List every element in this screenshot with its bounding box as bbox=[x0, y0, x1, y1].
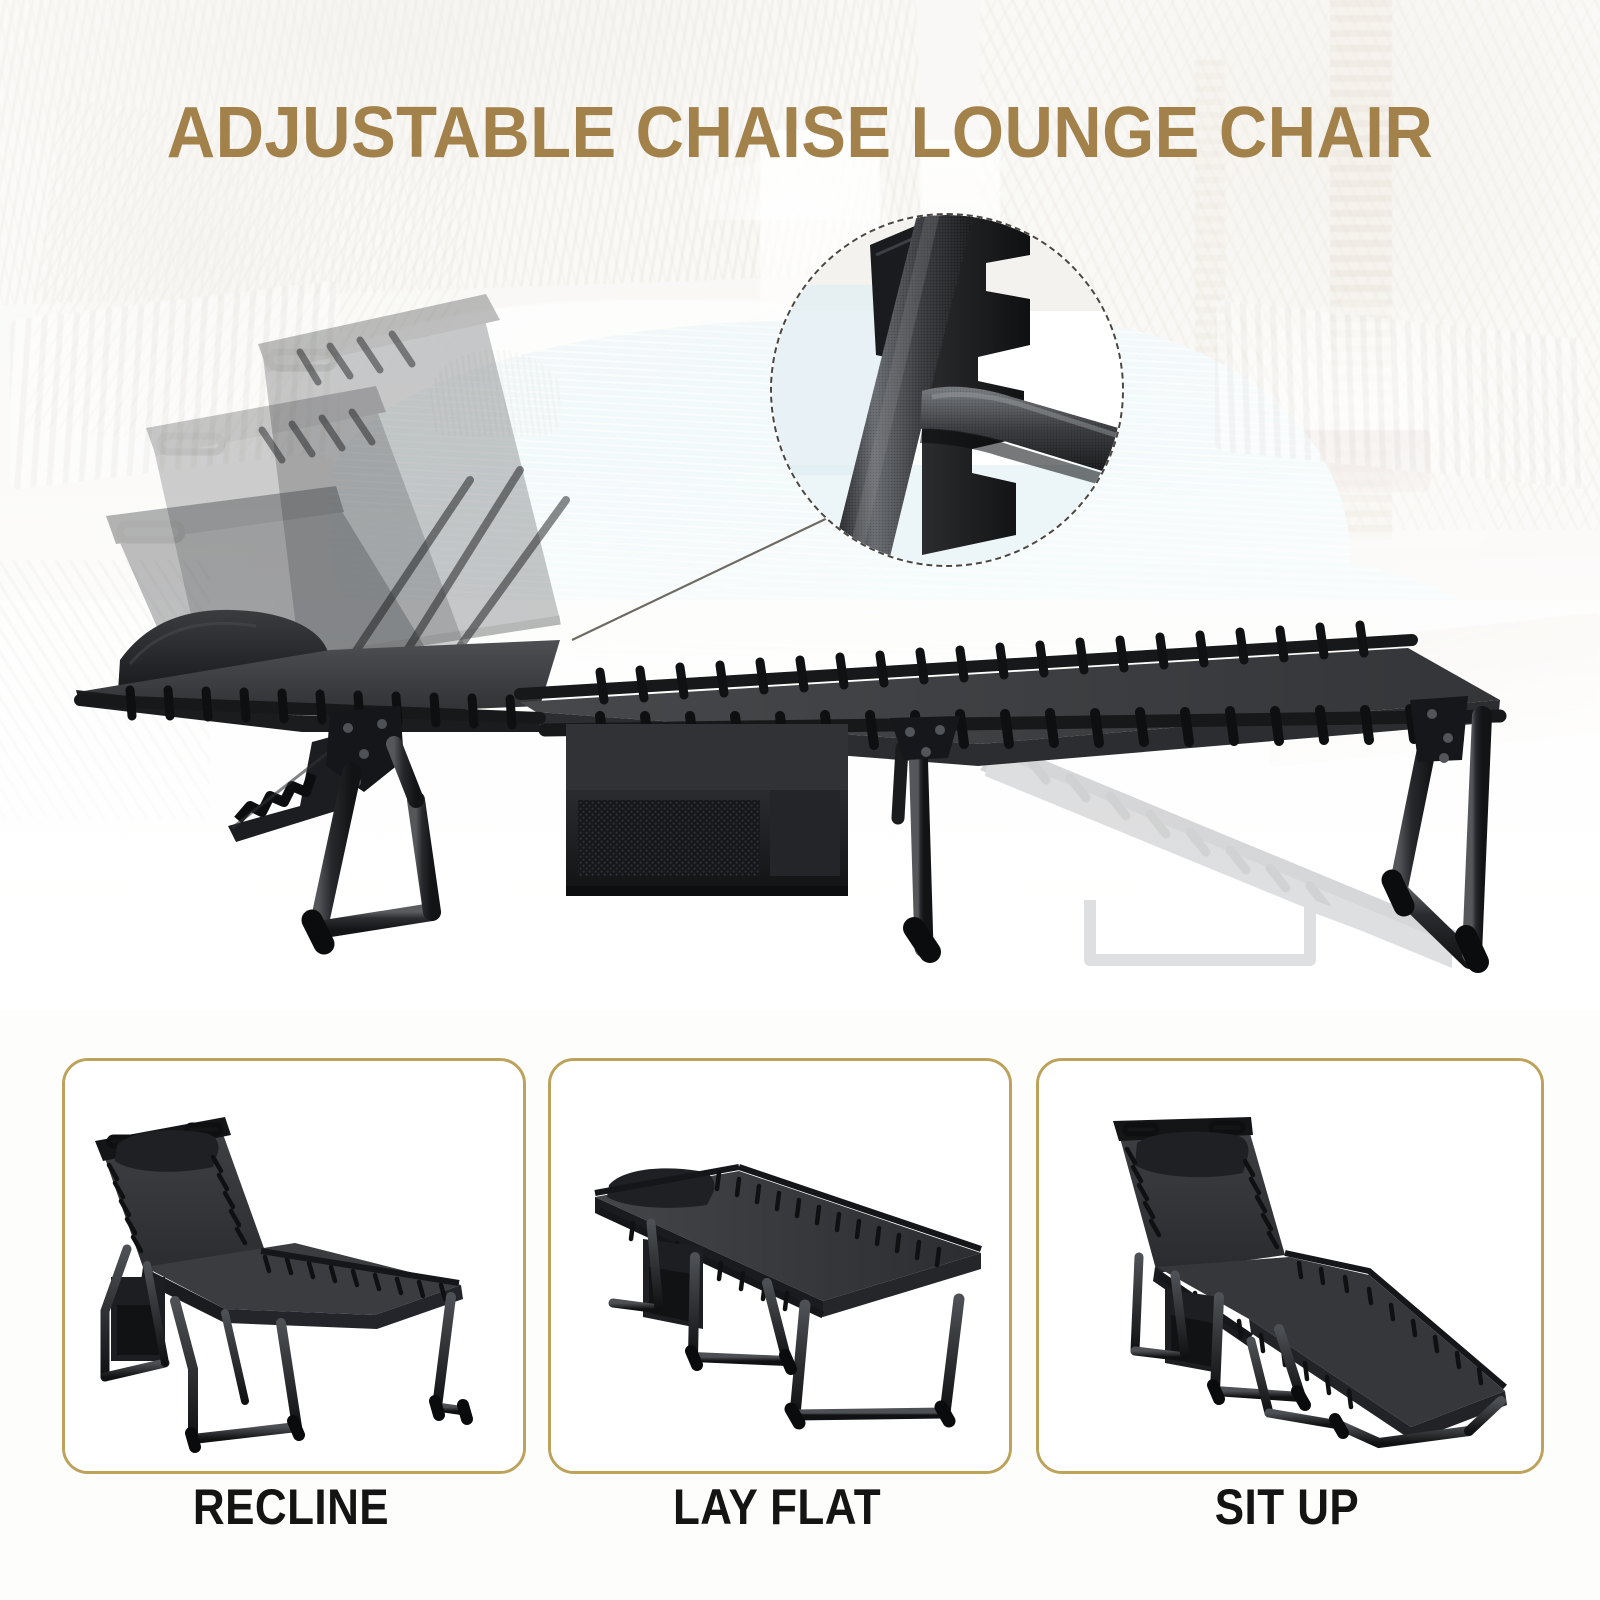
ratchet-mechanism-callout bbox=[770, 213, 1124, 567]
hero-product-illustration bbox=[0, 0, 1600, 1010]
position-captions: RECLINE LAY FLAT SIT UP bbox=[0, 1478, 1600, 1548]
card-lay-flat[interactable] bbox=[548, 1058, 1012, 1474]
card-sit-up[interactable] bbox=[1036, 1058, 1544, 1474]
caption-sit-up: SIT UP bbox=[1066, 1478, 1508, 1536]
caption-recline: RECLINE bbox=[89, 1478, 492, 1536]
caption-lay-flat: LAY FLAT bbox=[575, 1478, 978, 1536]
side-storage-pocket bbox=[566, 724, 848, 896]
sit-up-chair-illustration bbox=[1039, 1061, 1541, 1471]
card-recline[interactable] bbox=[62, 1058, 526, 1474]
lay-flat-chair-illustration bbox=[551, 1061, 1009, 1471]
recline-chair-illustration bbox=[65, 1061, 523, 1471]
callout-detail-illustration bbox=[772, 215, 1122, 565]
position-cards bbox=[0, 1058, 1600, 1478]
product-marketing-image: ADJUSTABLE CHAISE LOUNGE CHAIR bbox=[0, 0, 1600, 1600]
